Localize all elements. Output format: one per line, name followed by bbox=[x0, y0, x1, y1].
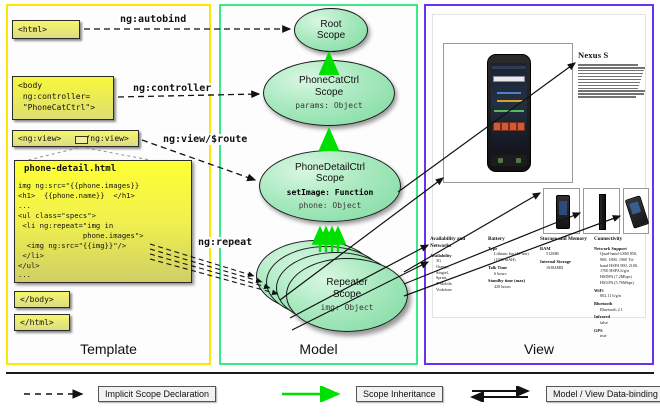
code-box-body-close: </body> bbox=[14, 291, 70, 308]
product-title: Nexus S bbox=[578, 50, 608, 60]
spec-column-connectivity: ConnectivityNetwork SupportQuad-band GSM… bbox=[594, 236, 646, 339]
description-text-line bbox=[578, 79, 641, 81]
phone-ui-line-2 bbox=[497, 100, 523, 102]
phone-home-button-bar bbox=[491, 155, 527, 166]
scope-phonedetailctrl-label: PhoneDetailCtrlScope bbox=[295, 162, 365, 185]
phone-app-icon bbox=[517, 122, 525, 131]
label-ng-autobind: ng:autobind bbox=[118, 14, 188, 25]
scope-phonedetailctrl: PhoneDetailCtrlScope setImage: Function … bbox=[259, 150, 401, 222]
spec-value: 16384MB bbox=[546, 265, 592, 271]
spec-value: true bbox=[600, 333, 646, 339]
spec-column-availability: Availability and NetworksAvailability3GO… bbox=[430, 236, 482, 292]
label-ng-controller: ng:controller bbox=[131, 83, 213, 94]
description-text-line bbox=[578, 90, 645, 92]
scope-phonecatctrl-props: params: Object bbox=[295, 101, 362, 111]
legend-dashed-arrow-icon bbox=[22, 386, 92, 402]
thumbnail-phone-front bbox=[556, 195, 570, 229]
phone-ui-line-1 bbox=[497, 92, 521, 94]
thumbnail-phone-edge bbox=[599, 194, 606, 230]
description-text-line bbox=[578, 70, 644, 72]
diagram-canvas: <html> <body ng:controller= "PhoneCatCtr… bbox=[0, 0, 660, 420]
legend-implicit-scope: Implicit Scope Declaration bbox=[22, 386, 216, 402]
phone-app-icon bbox=[501, 122, 509, 131]
description-text-line bbox=[578, 96, 636, 98]
description-text-line bbox=[578, 67, 645, 69]
spec-value: 512MB bbox=[546, 251, 592, 257]
scope-repeater-props: img: Object bbox=[321, 303, 374, 313]
description-text-line bbox=[578, 76, 642, 78]
phone-ui-line-3 bbox=[494, 110, 524, 112]
description-text-line bbox=[578, 82, 640, 84]
phone-app-icon bbox=[493, 122, 501, 131]
panel-title-model: Model bbox=[219, 341, 418, 357]
spec-column-header: Battery bbox=[488, 236, 540, 243]
panel-title-template: Template bbox=[6, 341, 211, 357]
spec-value: 6 hours bbox=[494, 271, 540, 277]
phone-search-widget bbox=[493, 76, 525, 82]
spec-value: Bluetooth 2.1 bbox=[600, 307, 646, 313]
template-filename: phone-detail.html bbox=[24, 164, 116, 174]
legend-label-scope-inheritance: Scope Inheritance bbox=[356, 386, 443, 402]
scope-repeater: RepeaterScope img: Object bbox=[286, 258, 408, 332]
description-text-line bbox=[578, 73, 643, 75]
scope-phonecatctrl: PhoneCatCtrlScope params: Object bbox=[263, 60, 395, 126]
spec-value: HSUPA (5.76Mbps) bbox=[600, 280, 646, 286]
spec-value: Vodafone bbox=[436, 287, 482, 293]
legend-label-data-binding: Model / View Data-binding bbox=[546, 386, 660, 402]
legend-label-implicit-scope: Implicit Scope Declaration bbox=[98, 386, 216, 402]
spec-column-header: Storage and Memory bbox=[540, 236, 592, 243]
spec-column-storage: Storage and MemoryRAM512MBInternal Stora… bbox=[540, 236, 592, 271]
code-box-html-open: <html> bbox=[12, 20, 80, 39]
legend-data-binding: Model / View Data-binding bbox=[470, 386, 660, 402]
ng-view-slot-icon bbox=[75, 136, 88, 144]
legend-green-arrow-icon bbox=[280, 386, 350, 402]
scope-root-label: RootScope bbox=[317, 19, 345, 42]
description-text-line bbox=[578, 93, 644, 95]
description-text-line bbox=[578, 64, 638, 66]
legend-scope-inheritance: Scope Inheritance bbox=[280, 386, 443, 402]
phone-status-bar bbox=[492, 66, 526, 69]
spec-column-header: Availability and Networks bbox=[430, 236, 482, 250]
repeater-scope-stack: RepeaterScope img: Object bbox=[256, 240, 408, 334]
spec-value: false bbox=[600, 320, 646, 326]
scope-phonedetailctrl-prop-phone: phone: Object bbox=[299, 201, 362, 211]
spec-column-battery: BatteryTypeLithium Ion (Li-Ion)(1500 mAH… bbox=[488, 236, 540, 290]
spec-column-header: Connectivity bbox=[594, 236, 646, 243]
scope-repeater-label: RepeaterScope bbox=[326, 277, 367, 300]
phone-nav-button bbox=[516, 158, 521, 163]
description-text-line bbox=[578, 88, 638, 90]
panel-title-view: View bbox=[424, 341, 654, 357]
template-source-code: img ng:src="{{phone.images}} <h1> {{phon… bbox=[18, 181, 190, 280]
spec-value: 802.11 b/g/n bbox=[600, 293, 646, 299]
product-description-text bbox=[578, 64, 645, 126]
label-ng-view-route: ng:view/$route bbox=[161, 134, 249, 145]
legend-double-arrow-icon bbox=[470, 386, 540, 402]
scope-phonedetailctrl-prop-setimage: setImage: Function bbox=[287, 188, 374, 198]
phone-app-icon bbox=[509, 122, 517, 131]
phone-nav-button bbox=[498, 158, 503, 163]
phone-app-icon-row bbox=[493, 122, 525, 131]
scope-root: RootScope bbox=[294, 8, 368, 52]
description-text-line bbox=[578, 85, 639, 87]
code-box-html-close: </html> bbox=[14, 314, 70, 331]
code-box-body-open: <body ng:controller= "PhoneCatCtrl"> bbox=[12, 76, 114, 120]
scope-phonecatctrl-label: PhoneCatCtrlScope bbox=[299, 75, 359, 98]
legend-divider bbox=[6, 372, 654, 374]
label-ng-repeat: ng:repeat bbox=[196, 237, 254, 248]
spec-value: 428 hours bbox=[494, 284, 540, 290]
spec-value: (1500 mAH) bbox=[494, 257, 540, 263]
